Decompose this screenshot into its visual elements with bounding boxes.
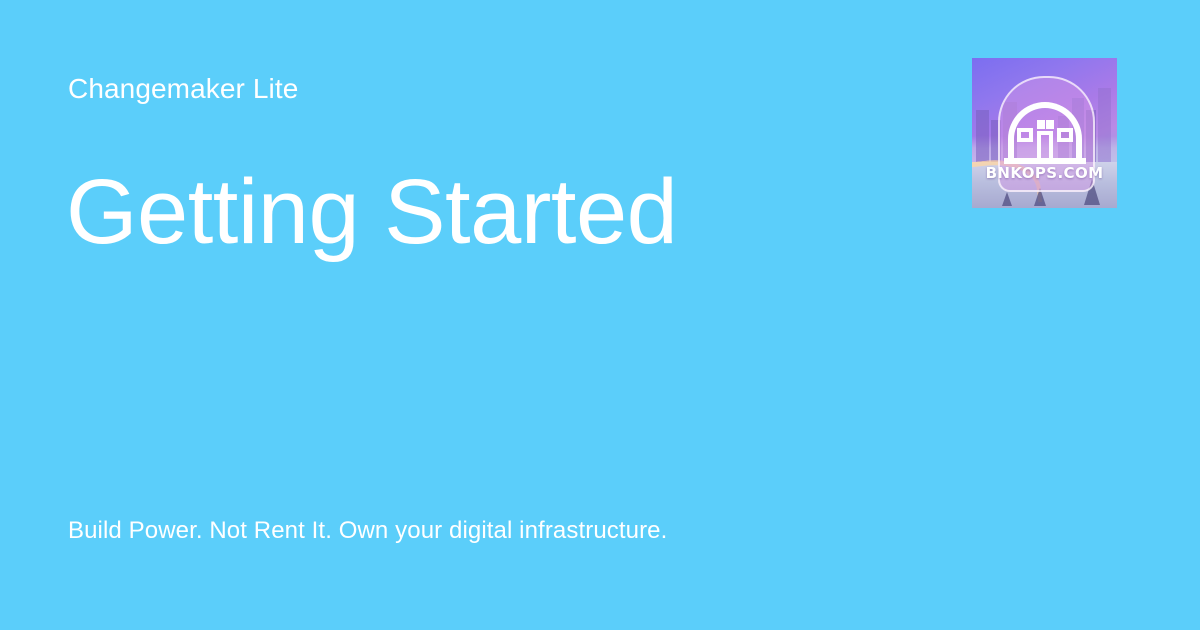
window-icon [1057,128,1073,142]
logo-wordmark: BNKOPS.COM [972,164,1117,182]
bnkops-logo: BNKOPS.COM [972,58,1117,208]
skyline-building-icon [1098,88,1111,168]
window-icon [1046,120,1054,129]
door-icon [1037,131,1053,158]
skyline-building-icon [976,110,989,166]
dome-building-icon [1008,102,1082,164]
window-icon [1017,128,1033,142]
window-icon [1037,120,1045,129]
tagline-text: Build Power. Not Rent It. Own your digit… [68,515,667,547]
social-share-card: Changemaker Lite Getting Started Build P… [0,0,1200,630]
tree-icon [1002,192,1012,206]
eyebrow-label: Changemaker Lite [68,72,298,106]
page-title: Getting Started [66,162,677,262]
